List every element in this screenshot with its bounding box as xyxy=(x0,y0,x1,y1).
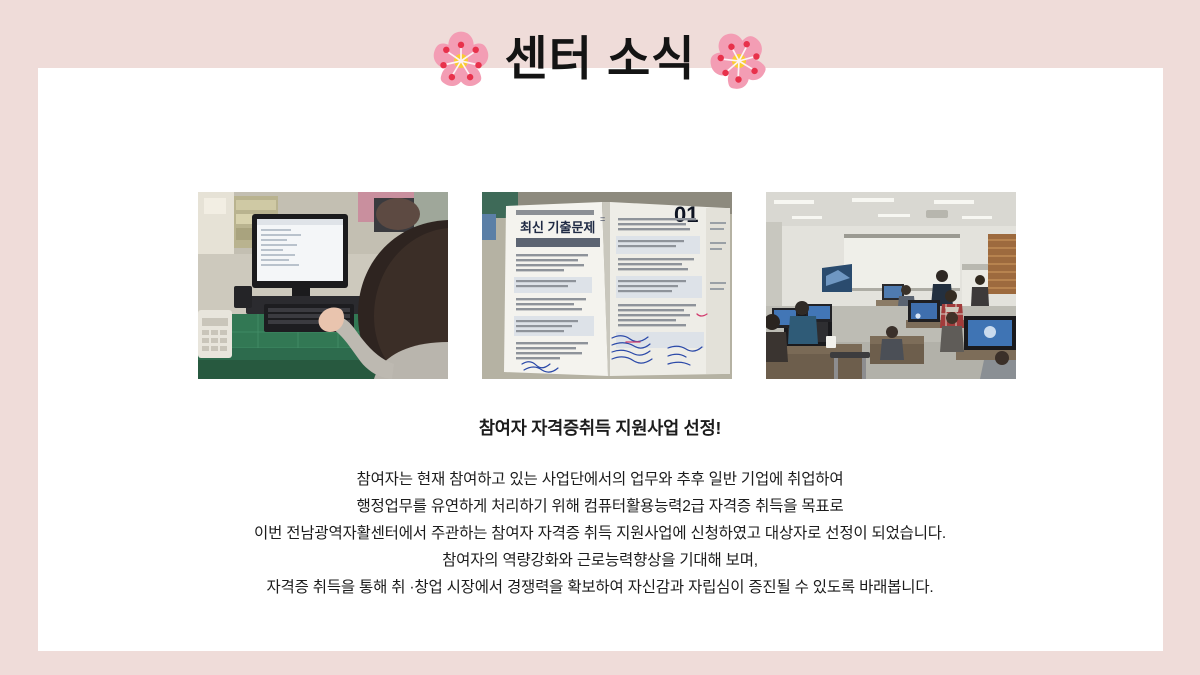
svg-text:=: = xyxy=(600,214,605,224)
photo-gallery: 최신 기출문제 = 01 xyxy=(198,192,1016,379)
announcement-headline: 참여자 자격증취득 지원사업 선정! xyxy=(0,415,1200,440)
body-line: 참여자의 역량강화와 근로능력향상을 기대해 보며, xyxy=(0,547,1200,574)
slide-page: 센터 소식 xyxy=(0,0,1200,675)
photo-computer-classroom xyxy=(766,192,1016,379)
body-line: 자격증 취득을 통해 취 ·창업 시장에서 경쟁력을 확보하여 자신감과 자립심… xyxy=(0,574,1200,601)
body-line: 이번 전남광역자활센터에서 주관하는 참여자 자격증 취득 지원사업에 신청하였… xyxy=(0,520,1200,547)
body-line: 참여자는 현재 참여하고 있는 사업단에서의 업무와 추후 일반 기업에 취업하… xyxy=(0,466,1200,493)
announcement-body: 참여자는 현재 참여하고 있는 사업단에서의 업무와 추후 일반 기업에 취업하… xyxy=(0,466,1200,601)
body-line: 행정업무를 유연하게 처리하기 위해 컴퓨터활용능력2급 자격증 취득을 목표로 xyxy=(0,493,1200,520)
photo-office-desk-computer xyxy=(198,192,448,379)
svg-text:최신 기출문제: 최신 기출문제 xyxy=(520,220,595,235)
photo-open-workbook-notes: 최신 기출문제 = 01 xyxy=(482,192,732,379)
